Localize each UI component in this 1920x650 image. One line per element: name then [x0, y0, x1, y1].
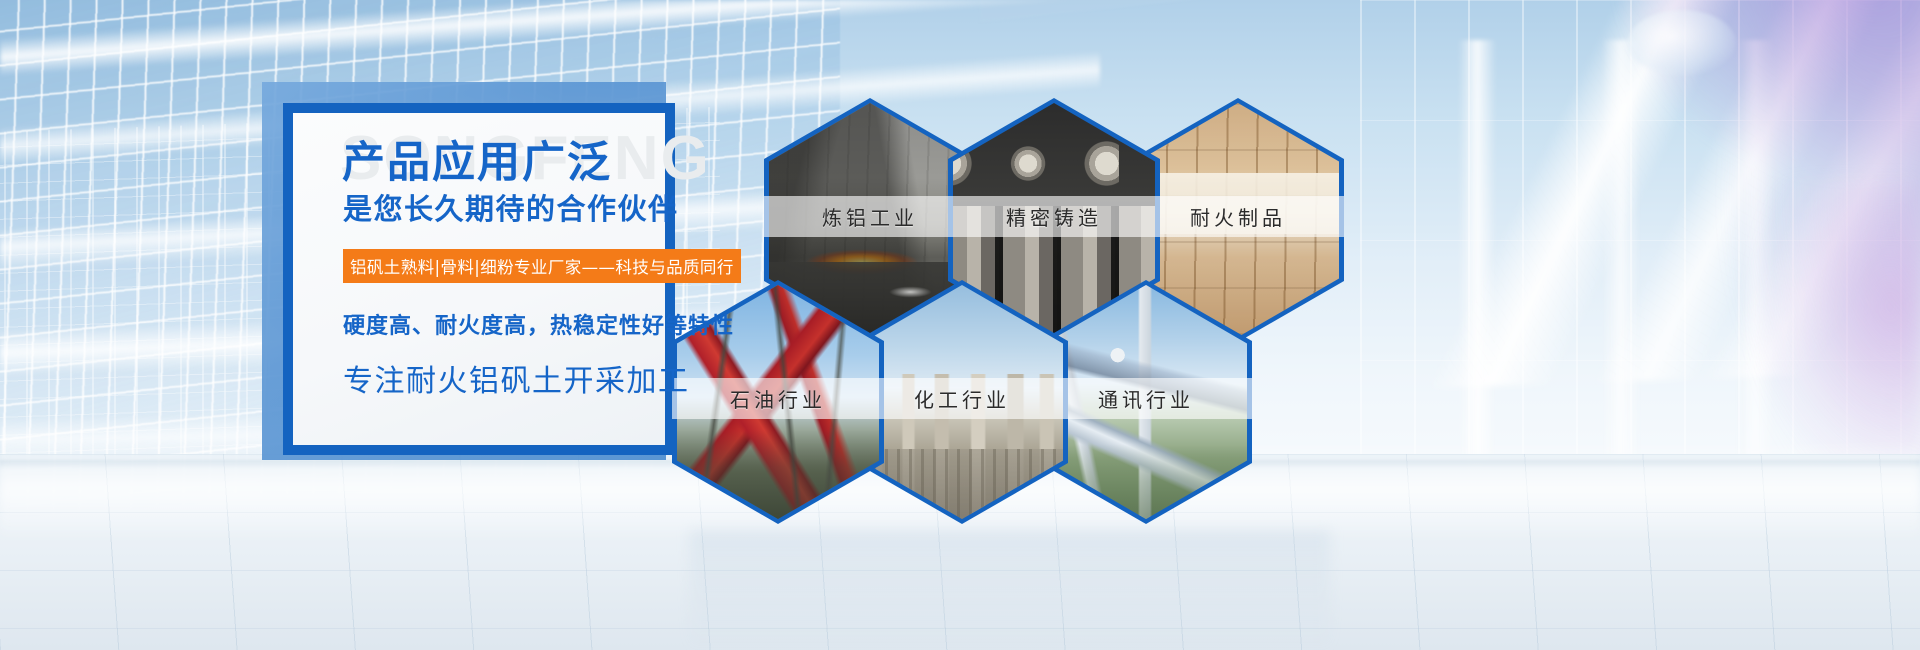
- industry-hexagon-cluster: 炼铝工业 精密铸造 耐火制品 石油行业: [0, 0, 1920, 650]
- hexagon-label-band: 精密铸造: [948, 196, 1160, 237]
- hexagon-label-band: 化工行业: [856, 378, 1068, 419]
- page-subtitle: 是您长久期待的合作伙伴: [343, 196, 679, 225]
- page-title: 产品应用广泛: [342, 142, 612, 185]
- tagline-text: 铝矾土熟料|骨料|细粉专业厂家——科技与品质同行: [350, 254, 734, 278]
- headline-text-block: SONGFENG 产品应用广泛 是您长久期待的合作伙伴 铝矾土熟料|骨料|细粉专…: [340, 128, 810, 458]
- hexagon-label-text: 耐火制品: [1190, 202, 1286, 231]
- hexagon-label-text: 炼铝工业: [822, 202, 918, 231]
- banner-stage: SONGFENG 产品应用广泛 是您长久期待的合作伙伴 铝矾土熟料|骨料|细粉专…: [0, 0, 1920, 650]
- hexagon-label-text: 化工行业: [914, 384, 1010, 413]
- hexagon-label-text: 精密铸造: [1006, 202, 1102, 231]
- tagline-orange-bar: 铝矾土熟料|骨料|细粉专业厂家——科技与品质同行: [343, 249, 741, 283]
- feature-text-line: 硬度高、耐火度高，热稳定性好等特性: [343, 308, 734, 340]
- business-focus-line: 专注耐火铝矾土开采加工: [343, 356, 690, 400]
- hexagon-label-band: 耐火制品: [1132, 196, 1344, 237]
- hexagon-label-band: 通讯行业: [1040, 378, 1252, 419]
- hexagon-label-text: 通讯行业: [1098, 384, 1194, 413]
